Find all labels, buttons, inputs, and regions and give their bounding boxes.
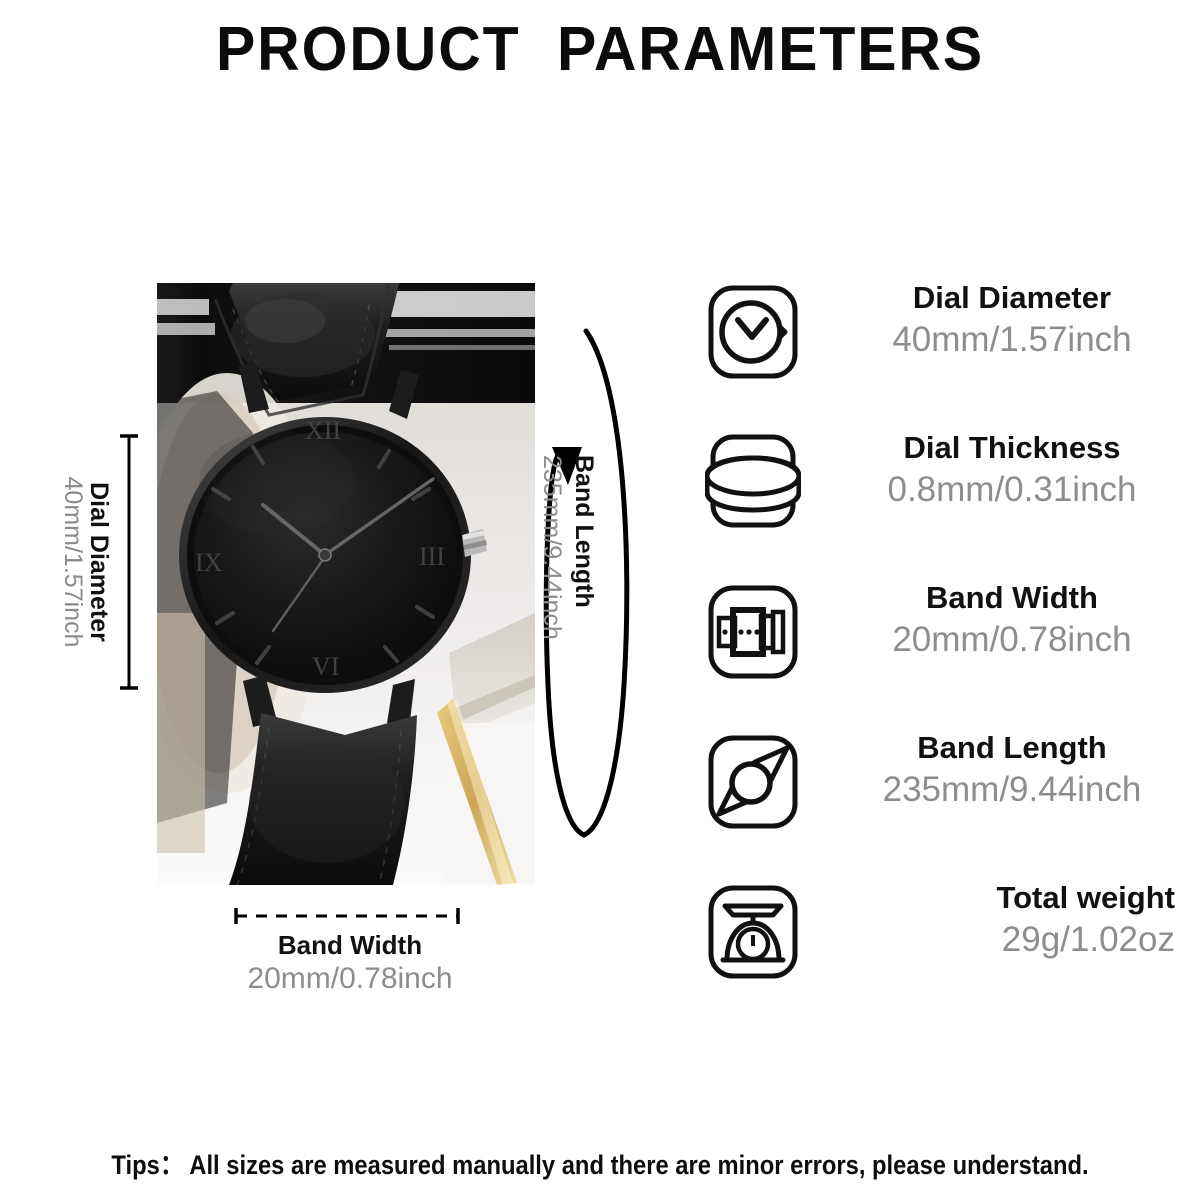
band-width-measure-line bbox=[232, 905, 462, 927]
spec-text-total-weight: Total weight 29g/1.02oz bbox=[801, 878, 1183, 962]
dial-diameter-annotation-value: 40mm/1.57inch bbox=[60, 434, 86, 690]
svg-text:VI: VI bbox=[312, 652, 339, 681]
page-title: PRODUCT PARAMETERS bbox=[30, 14, 1170, 85]
dial-diameter-annotation-label: Dial Diameter bbox=[86, 434, 112, 690]
spec-value: 20mm/0.78inch bbox=[841, 618, 1183, 662]
spec-list: Dial Diameter 40mm/1.57inch Dial Thickne… bbox=[705, 278, 1183, 1028]
spec-row-total-weight: Total weight 29g/1.02oz bbox=[705, 878, 1183, 1028]
band-length-annotation: Band Length 235mm/9.44inch bbox=[565, 455, 625, 745]
disc-thickness-icon bbox=[705, 432, 801, 532]
spec-row-dial-diameter: Dial Diameter 40mm/1.57inch bbox=[705, 278, 1183, 428]
strap-buckle-icon bbox=[705, 582, 801, 682]
spec-text-band-width: Band Width 20mm/0.78inch bbox=[801, 578, 1183, 662]
kitchen-scale-icon bbox=[705, 882, 801, 982]
svg-text:III: III bbox=[419, 542, 445, 571]
product-parameters-page: PRODUCT PARAMETERS bbox=[0, 0, 1200, 1200]
spec-row-band-width: Band Width 20mm/0.78inch bbox=[705, 578, 1183, 728]
band-width-annotation-label: Band Width bbox=[180, 930, 520, 961]
tips-footer: Tips： All sizes are measured manually an… bbox=[72, 1143, 1128, 1182]
spec-label: Band Width bbox=[841, 578, 1183, 618]
spec-label: Dial Diameter bbox=[841, 278, 1183, 318]
band-width-annotation-value: 20mm/0.78inch bbox=[180, 962, 520, 996]
spec-text-dial-diameter: Dial Diameter 40mm/1.57inch bbox=[801, 278, 1183, 362]
svg-text:IX: IX bbox=[195, 548, 223, 577]
spec-row-band-length: Band Length 235mm/9.44inch bbox=[705, 728, 1183, 878]
spec-value: 40mm/1.57inch bbox=[841, 318, 1183, 362]
spec-value: 29g/1.02oz bbox=[841, 918, 1175, 962]
product-photo: XII III VI IX bbox=[157, 283, 535, 885]
spec-label: Dial Thickness bbox=[841, 428, 1183, 468]
spec-label: Band Length bbox=[841, 728, 1183, 768]
spec-text-band-length: Band Length 235mm/9.44inch bbox=[801, 728, 1183, 812]
spec-label: Total weight bbox=[841, 878, 1175, 918]
svg-text:XII: XII bbox=[305, 416, 341, 445]
spec-value: 235mm/9.44inch bbox=[841, 768, 1183, 812]
spec-row-dial-thickness: Dial Thickness 0.8mm/0.31inch bbox=[705, 428, 1183, 578]
band-length-annotation-label: Band Length bbox=[569, 455, 599, 745]
watch-strap-diagonal-icon bbox=[705, 732, 801, 832]
spec-text-dial-thickness: Dial Thickness 0.8mm/0.31inch bbox=[801, 428, 1183, 512]
dial-diameter-measure-line bbox=[120, 430, 138, 694]
band-length-annotation-value: 235mm/9.44inch bbox=[537, 455, 567, 745]
dial-diameter-annotation: Dial Diameter 40mm/1.57inch bbox=[86, 434, 112, 690]
watch-dial-icon bbox=[705, 282, 801, 382]
spec-value: 0.8mm/0.31inch bbox=[841, 468, 1183, 512]
